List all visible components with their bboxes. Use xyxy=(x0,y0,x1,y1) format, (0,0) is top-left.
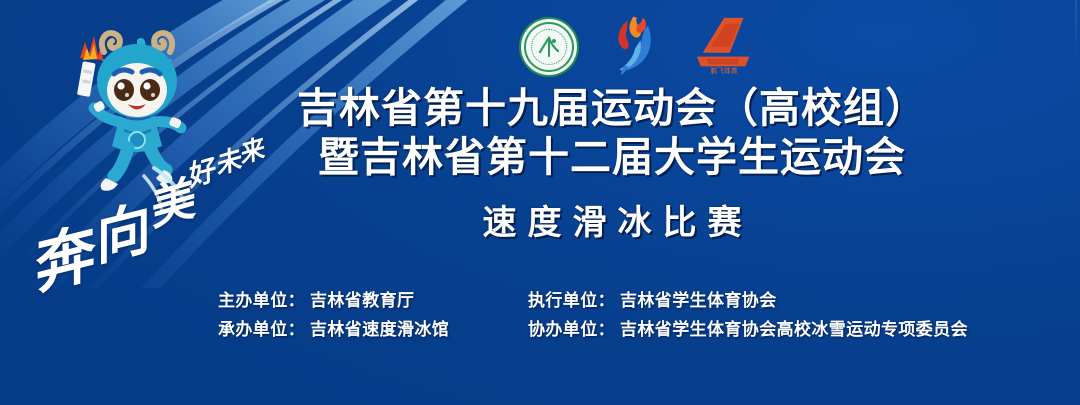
credit-value: 吉林省学生体育协会高校冰雪运动专项委员会 xyxy=(620,320,968,339)
jilin-education-seal-logo xyxy=(519,17,579,77)
event-poster: 奔 向 美 好 未 来 xyxy=(0,0,1080,405)
credit-value: 吉林省教育厅 xyxy=(310,291,414,310)
title-line-2: 暨吉林省第十二届大学生运动会 xyxy=(232,135,992,181)
credit-row-coorganizer: 协办单位：吉林省学生体育协会高校冰雪运动专项委员会 xyxy=(528,315,1018,340)
angular-mark-icon: 鹏飞体育 xyxy=(691,14,761,76)
dragon-mascot xyxy=(58,18,198,208)
credit-value: 吉林省学生体育协会 xyxy=(620,291,777,310)
right-edge-highlight xyxy=(1075,0,1077,58)
credit-label: 协办单位： xyxy=(528,320,615,339)
games-flame-emblem-logo xyxy=(607,13,663,82)
credit-label: 执行单位： xyxy=(528,291,615,310)
credit-row-executor: 执行单位：吉林省学生体育协会 xyxy=(528,286,1018,311)
pengfei-caption: 鹏飞体育 xyxy=(711,66,738,75)
title-block: 吉林省第十九届运动会（高校组） 暨吉林省第十二届大学生运动会 速度滑冰比赛 xyxy=(232,86,992,244)
credit-row-undertaker: 承办单位：吉林省速度滑冰馆 xyxy=(218,315,528,340)
credit-value: 吉林省速度滑冰馆 xyxy=(310,320,449,339)
credit-label: 承办单位： xyxy=(218,320,305,339)
credit-label: 主办单位： xyxy=(218,291,305,310)
credit-row-host: 主办单位：吉林省教育厅 xyxy=(218,286,528,311)
logo-row: 鹏飞体育 xyxy=(519,10,751,84)
organizer-credits: 主办单位：吉林省教育厅 执行单位：吉林省学生体育协会 承办单位：吉林省速度滑冰馆… xyxy=(218,286,1018,340)
title-line-1: 吉林省第十九届运动会（高校组） xyxy=(232,86,992,132)
flame-swoosh-icon xyxy=(607,13,663,77)
pengfei-sports-logo: 鹏飞体育 xyxy=(691,14,761,81)
title-line-3: 速度滑冰比赛 xyxy=(232,195,992,244)
seal-figure-icon xyxy=(536,34,562,60)
